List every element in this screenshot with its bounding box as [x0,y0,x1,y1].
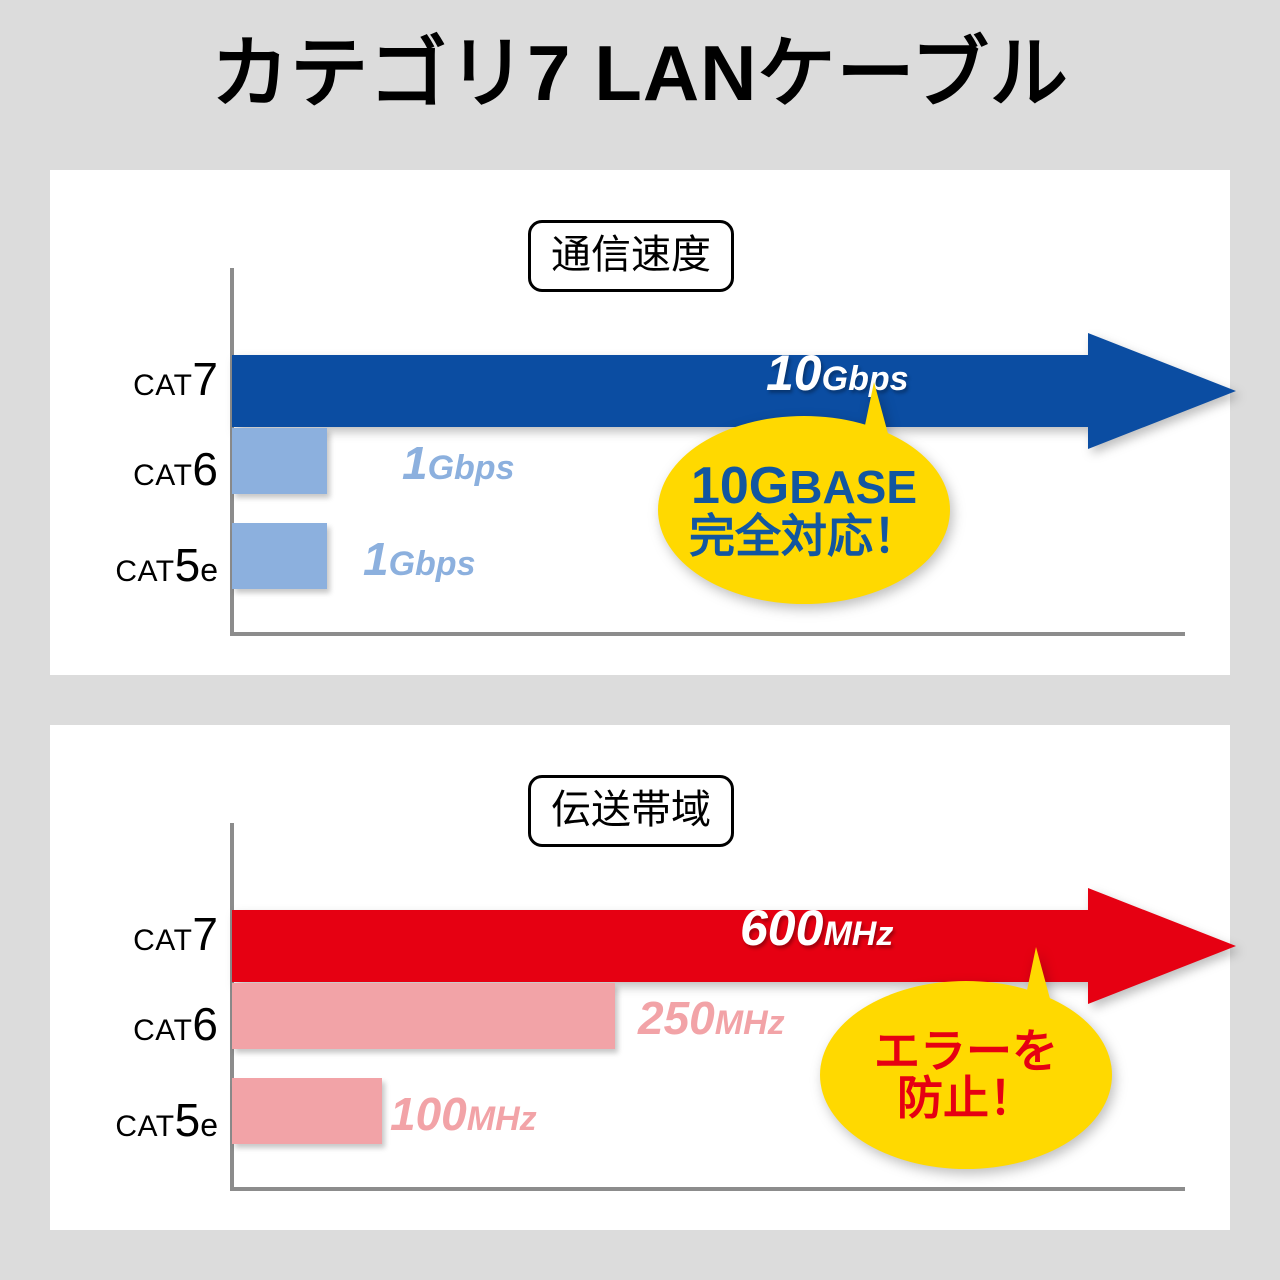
value-number: 100 [390,1088,467,1140]
callout-bubble-error-prevention: エラーを 防止！ [820,947,1112,1169]
cat-number: 5 [175,1094,201,1146]
bubble-line-1: エラーを [874,1028,1058,1075]
bubble-line-2: 完全対応！ [689,513,919,560]
bar-cat6-bandwidth [232,983,615,1049]
bar-cat6-speed [232,428,327,494]
panel-transmission-bandwidth: 伝送帯域 CAT7 600MHz CAT6 250MHz CAT5e [50,725,1230,1230]
section-badge-speed: 通信速度 [528,220,734,292]
x-axis-line [230,632,1185,636]
value-number: 600 [740,900,823,956]
cat-suffix: e [200,1107,218,1143]
cat-word: CAT [133,924,192,957]
cat-number: 6 [192,443,218,495]
x-axis-line [230,1187,1185,1191]
bubble-text: 10GBASE 完全対応！ [658,416,950,604]
value-number: 1 [402,437,428,489]
callout-bubble-10gbase: 10GBASE 完全対応！ [658,382,950,604]
cat-word: CAT [115,555,174,588]
cat-word: CAT [115,1110,174,1143]
bar-cat5e-speed [232,523,327,589]
bubble-line-1-big: 10G [691,457,789,515]
value-unit: Gbps [428,449,515,487]
cat-number: 5 [175,539,201,591]
section-badge-bandwidth: 伝送帯域 [528,775,734,847]
bubble-text: エラーを 防止！ [820,981,1112,1169]
panel-communication-speed: 通信速度 CAT7 10Gbps CAT6 1Gbps CAT5e [50,170,1230,675]
value-label-cat6-speed: 1Gbps [402,440,515,486]
bubble-line-1: 10GBASE [691,460,917,513]
cat-word: CAT [133,369,192,402]
value-label-cat6-bandwidth: 250MHz [638,995,785,1041]
cat-number: 7 [192,353,218,405]
category-label-cat7: CAT7 [68,356,218,402]
bubble-line-1-small: BASE [789,461,917,513]
bubble-line-2: 防止！ [897,1075,1035,1122]
category-label-cat5e: CAT5e [68,1097,218,1143]
value-number: 1 [363,533,389,585]
bar-cat5e-bandwidth [232,1078,382,1144]
value-label-cat5e-bandwidth: 100MHz [390,1091,537,1137]
cat-suffix: e [200,552,218,588]
value-label-cat7-bandwidth: 600MHz [740,903,893,953]
category-label-cat6: CAT6 [68,1001,218,1047]
cat-word: CAT [133,1014,192,1047]
category-label-cat5e: CAT5e [68,542,218,588]
value-unit: MHz [467,1100,537,1138]
category-label-cat6: CAT6 [68,446,218,492]
cat-number: 7 [192,908,218,960]
value-unit: Gbps [389,545,476,583]
value-unit: MHz [715,1004,785,1042]
cat-number: 6 [192,998,218,1050]
category-label-cat7: CAT7 [68,911,218,957]
page-title: カテゴリ7 LANケーブル [0,34,1280,112]
cat-word: CAT [133,459,192,492]
value-number: 250 [638,992,715,1044]
value-label-cat5e-speed: 1Gbps [363,536,476,582]
